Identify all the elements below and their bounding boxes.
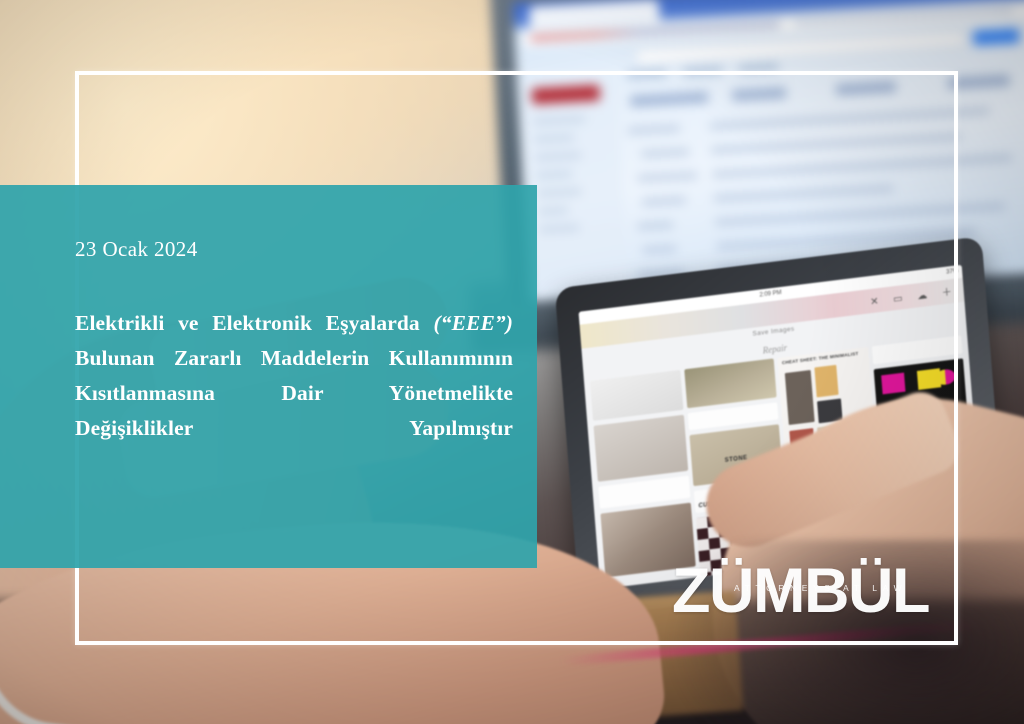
page-menu-1 [627, 70, 667, 79]
tablet-clock: 2:09 PM [759, 290, 782, 299]
pin-tile [594, 415, 688, 482]
page-title: Elektrikli ve Elektronik Eşyalarda (“EEE… [75, 306, 513, 446]
list-row [715, 203, 1005, 225]
list-row [641, 149, 689, 158]
list-row [642, 197, 686, 205]
list-row [637, 222, 673, 230]
list-row [710, 108, 990, 130]
dark-corner-shadow [664, 540, 1024, 724]
list-chip [947, 75, 1010, 89]
browser-tab [529, 0, 660, 28]
white-cable [0, 551, 121, 724]
page-search-button [973, 28, 1020, 46]
list-row [712, 155, 1012, 178]
list-chip [836, 81, 897, 95]
headline-abbreviation: (“EEE”) [433, 311, 513, 335]
headline-rest: Bulunan Zararlı Maddelerin Kullanımının … [75, 346, 513, 440]
tablet-search-text: Repair [762, 343, 787, 356]
list-chip [630, 92, 708, 107]
publish-date: 23 Ocak 2024 [75, 237, 513, 262]
pin-tile [590, 370, 683, 421]
list-row [714, 185, 894, 201]
pin-tile [684, 358, 777, 408]
page-menu-3 [738, 64, 778, 73]
tablet-battery: 37% [946, 268, 958, 275]
list-row [642, 246, 676, 254]
list-row [628, 125, 680, 134]
news-banner-card: 2:09 PM 37% ✕ ▭ ☁ ＋ Save Images Repair [0, 0, 1024, 724]
page-menu-2 [683, 67, 723, 76]
headline-prefix: Elektrikli ve Elektronik Eşyalarda [75, 311, 433, 335]
pin-caption: CHEAT SHEET: THE MINIMALIST [782, 350, 864, 365]
list-row [637, 172, 697, 181]
list-chip [732, 87, 787, 101]
list-row [711, 133, 961, 153]
tablet-save-images-label: Save Images [752, 326, 795, 338]
panel-content: 23 Ocak 2024 Elektrikli ve Elektronik Eş… [0, 185, 537, 568]
